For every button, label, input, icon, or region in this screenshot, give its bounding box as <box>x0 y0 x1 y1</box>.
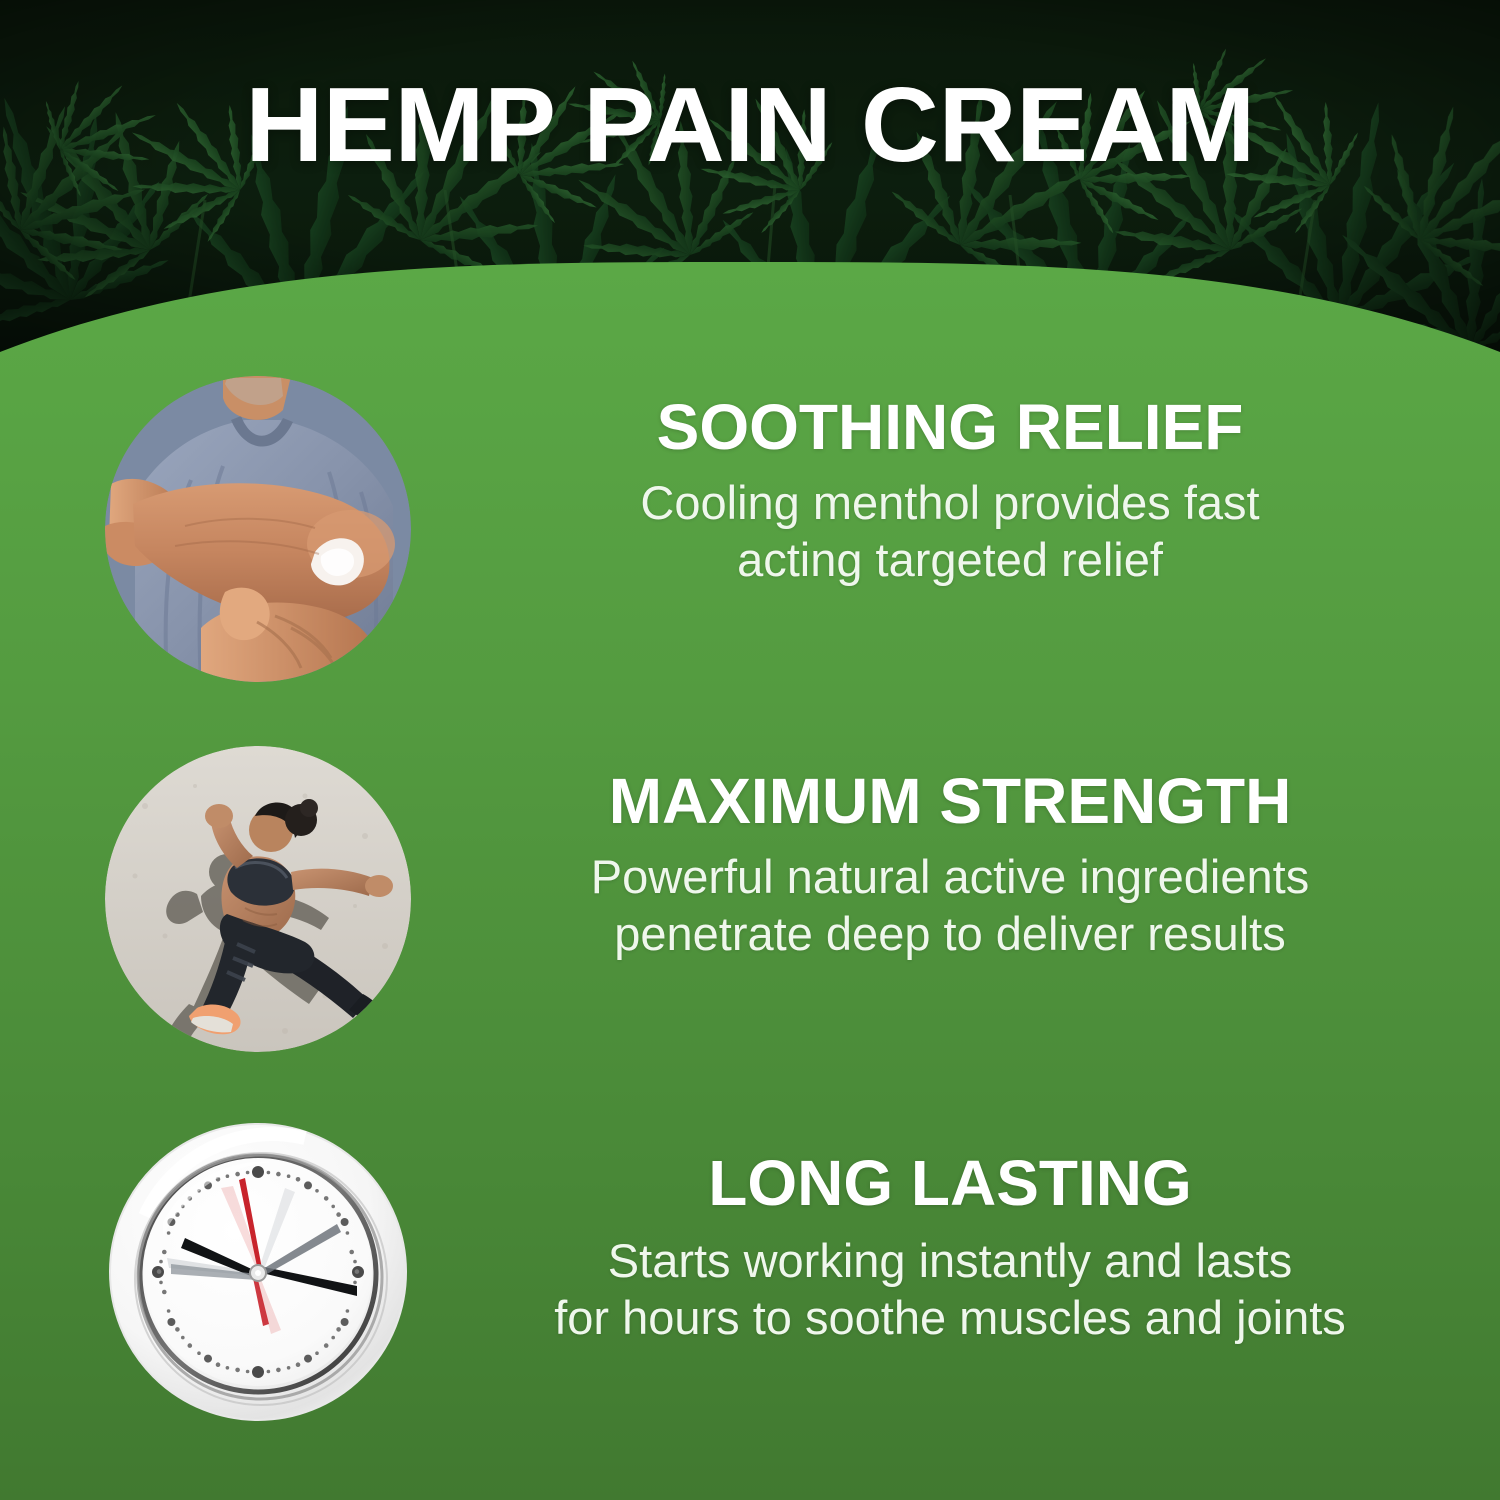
feature-body: Cooling menthol provides fast acting tar… <box>455 474 1445 588</box>
feature-body: Powerful natural active ingredients pene… <box>455 848 1445 962</box>
infographic-page: HEMP PAIN CREAM <box>0 0 1500 1500</box>
feature-heading: SOOTHING RELIEF <box>455 394 1445 460</box>
feature-body-line: penetrate deep to deliver results <box>455 905 1445 962</box>
feature-heading: MAXIMUM STRENGTH <box>455 768 1445 834</box>
feature-body-line: Powerful natural active ingredients <box>455 848 1445 905</box>
woman-running-icon <box>105 746 411 1052</box>
feature-body-line: acting targeted relief <box>455 531 1445 588</box>
feature-text: MAXIMUM STRENGTH Powerful natural active… <box>455 768 1445 962</box>
feature-heading: LONG LASTING <box>455 1150 1445 1216</box>
feature-body: Starts working instantly and lasts for h… <box>455 1232 1445 1346</box>
feature-text: LONG LASTING Starts working instantly an… <box>455 1150 1445 1346</box>
feature-body-line: Starts working instantly and lasts <box>455 1232 1445 1289</box>
feature-text: SOOTHING RELIEF Cooling menthol provides… <box>455 394 1445 588</box>
features-list: SOOTHING RELIEF Cooling menthol provides… <box>0 0 1500 1500</box>
man-applying-cream-icon <box>105 376 411 682</box>
feature-body-line: Cooling menthol provides fast <box>455 474 1445 531</box>
feature-body-line: for hours to soothe muscles and joints <box>455 1289 1445 1346</box>
wall-clock-icon <box>105 1116 411 1422</box>
